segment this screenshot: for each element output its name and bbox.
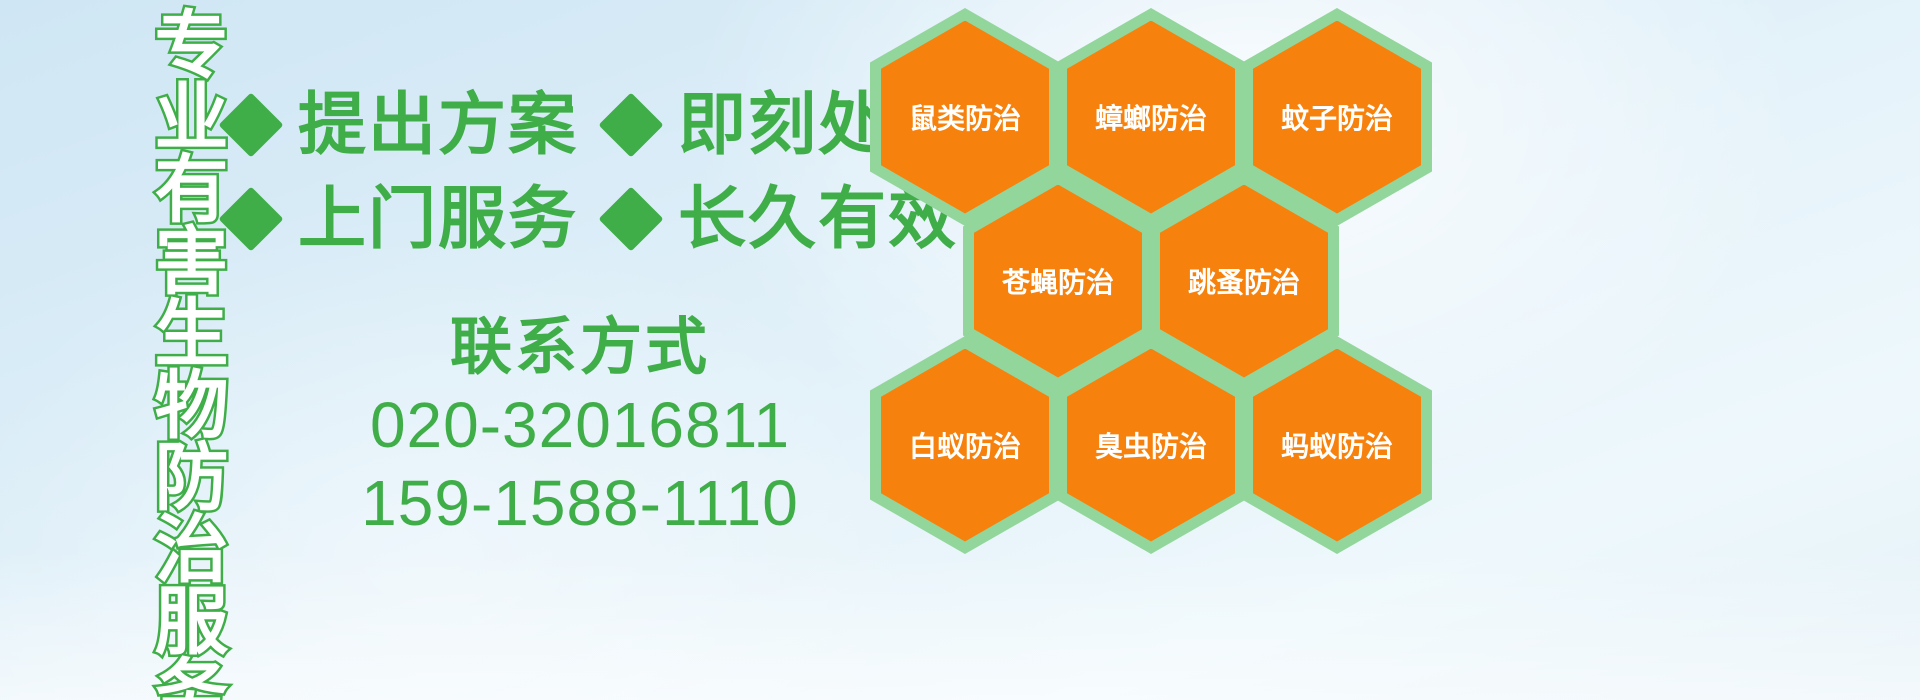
feature-item-onsite-service: 上门服务: [228, 185, 578, 253]
diamond-bullet-icon: [598, 186, 663, 251]
phone-landline[interactable]: 020-32016811: [300, 386, 860, 464]
feature-label: 提出方案: [298, 91, 578, 159]
vertical-headline: 专业有害生物防治服务: [112, 6, 220, 700]
hex-inner: 臭虫防治: [1067, 349, 1235, 542]
feature-list: 提出方案 即刻处理 上门服务 长久有效: [228, 78, 958, 266]
hex-label: 蚊子防治: [1281, 97, 1393, 137]
hex-inner: 鼠类防治: [881, 21, 1049, 214]
contact-block: 联系方式 020-32016811 159-1588-1110: [300, 315, 860, 542]
hex-label: 白蚁防治: [909, 425, 1021, 465]
feature-row: 提出方案 即刻处理: [228, 78, 958, 172]
diamond-bullet-icon: [598, 92, 663, 157]
service-honeycomb: 鼠类防治 蟑螂防治 蚊子防治 苍蝇防治 跳蚤防治 白蚁防治: [860, 0, 1480, 700]
feature-label: 上门服务: [298, 185, 578, 253]
hex-label: 臭虫防治: [1095, 425, 1207, 465]
pest-control-banner: 专业有害生物防治服务 提出方案 即刻处理 上门服务 长久有效: [0, 0, 1920, 700]
hex-inner: 苍蝇防治: [974, 185, 1142, 378]
diamond-bullet-icon: [218, 92, 283, 157]
phone-mobile[interactable]: 159-1588-1110: [300, 464, 860, 542]
feature-row: 上门服务 长久有效: [228, 172, 958, 266]
feature-item-propose-plan: 提出方案: [228, 91, 578, 159]
hex-inner: 跳蚤防治: [1160, 185, 1328, 378]
hex-inner: 蚂蚁防治: [1253, 349, 1421, 542]
hex-inner: 蟑螂防治: [1067, 21, 1235, 214]
hex-inner: 白蚁防治: [881, 349, 1049, 542]
hex-label: 鼠类防治: [909, 97, 1021, 137]
hex-label: 蟑螂防治: [1095, 97, 1207, 137]
hex-label: 苍蝇防治: [1002, 261, 1114, 301]
contact-title: 联系方式: [300, 315, 860, 380]
hex-inner: 蚊子防治: [1253, 21, 1421, 214]
hex-label: 跳蚤防治: [1188, 261, 1300, 301]
hex-label: 蚂蚁防治: [1281, 425, 1393, 465]
diamond-bullet-icon: [218, 186, 283, 251]
